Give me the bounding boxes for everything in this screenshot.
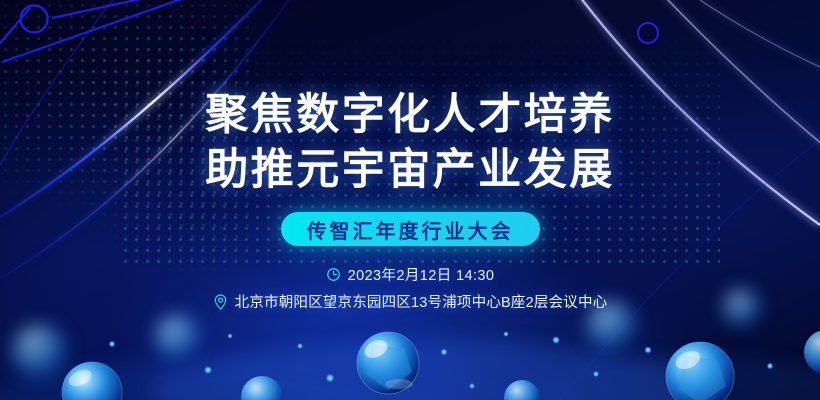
- title-line-1: 聚焦数字化人才培养: [205, 88, 615, 143]
- event-banner: 聚焦数字化人才培养 助推元宇宙产业发展 传智汇年度行业大会 2023年2月12日…: [0, 0, 820, 400]
- title-line-2: 助推元宇宙产业发展: [205, 143, 615, 198]
- subtitle-pill-label: 传智汇年度行业大会: [307, 215, 514, 244]
- subtitle-pill[interactable]: 传智汇年度行业大会: [281, 212, 540, 246]
- clock-icon: [326, 267, 341, 282]
- event-date-row: 2023年2月12日 14:30: [213, 264, 608, 285]
- event-address-row: 北京市朝阳区望京东园四区13号浦项中心B座2层会议中心: [213, 291, 608, 312]
- banner-content: 聚焦数字化人才培养 助推元宇宙产业发展 传智汇年度行业大会 2023年2月12日…: [0, 0, 820, 400]
- event-meta: 2023年2月12日 14:30 北京市朝阳区望京东园四区13号浦项中心B座2层…: [213, 264, 608, 312]
- event-date-text: 2023年2月12日 14:30: [348, 264, 495, 285]
- event-address-text: 北京市朝阳区望京东园四区13号浦项中心B座2层会议中心: [235, 291, 608, 312]
- main-title: 聚焦数字化人才培养 助推元宇宙产业发展: [205, 88, 615, 198]
- map-pin-icon: [213, 294, 228, 310]
